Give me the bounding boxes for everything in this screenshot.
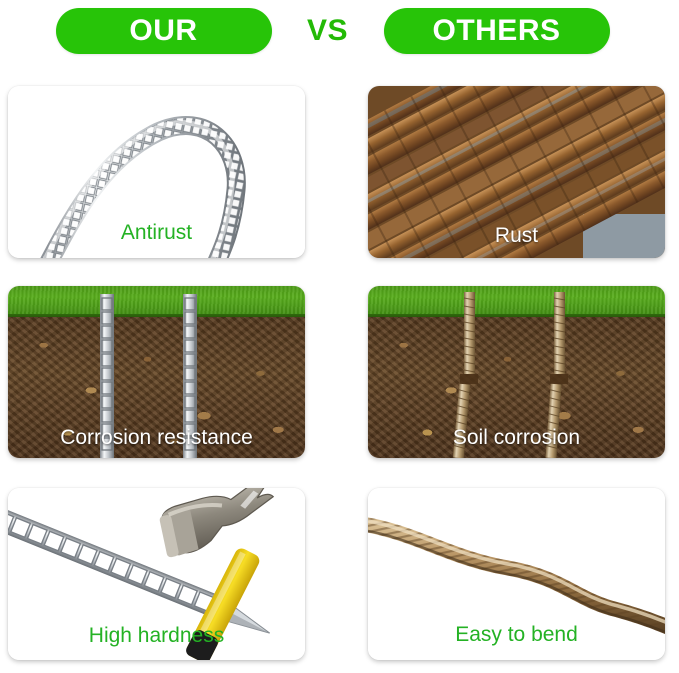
header-bar: OUR VS OTHERS [0,0,679,62]
our-label: OUR [129,14,197,48]
caption-antirust: Antirust [8,221,305,245]
card-others-easy-to-bend: Easy to bend [368,488,665,660]
card-our-antirust: Antirust [8,86,305,258]
caption-rust: Rust [368,224,665,248]
caption-easy-to-bend: Easy to bend [368,623,665,647]
others-label: OTHERS [432,14,560,48]
comparison-grid: Antirust [0,62,679,673]
comparison-infographic: OUR VS OTHERS [0,0,679,673]
vs-label: VS [272,14,384,48]
card-others-rust: Rust [368,86,665,258]
card-our-high-hardness: High hardness [8,488,305,660]
our-pill: OUR [56,8,272,54]
card-our-corrosion-resistance: Corrosion resistance [8,286,305,458]
card-others-soil-corrosion: Soil corrosion [368,286,665,458]
caption-soil-corrosion: Soil corrosion [368,426,665,450]
caption-high-hardness: High hardness [8,624,305,648]
caption-corrosion-resistance: Corrosion resistance [8,426,305,450]
others-pill: OTHERS [384,8,610,54]
